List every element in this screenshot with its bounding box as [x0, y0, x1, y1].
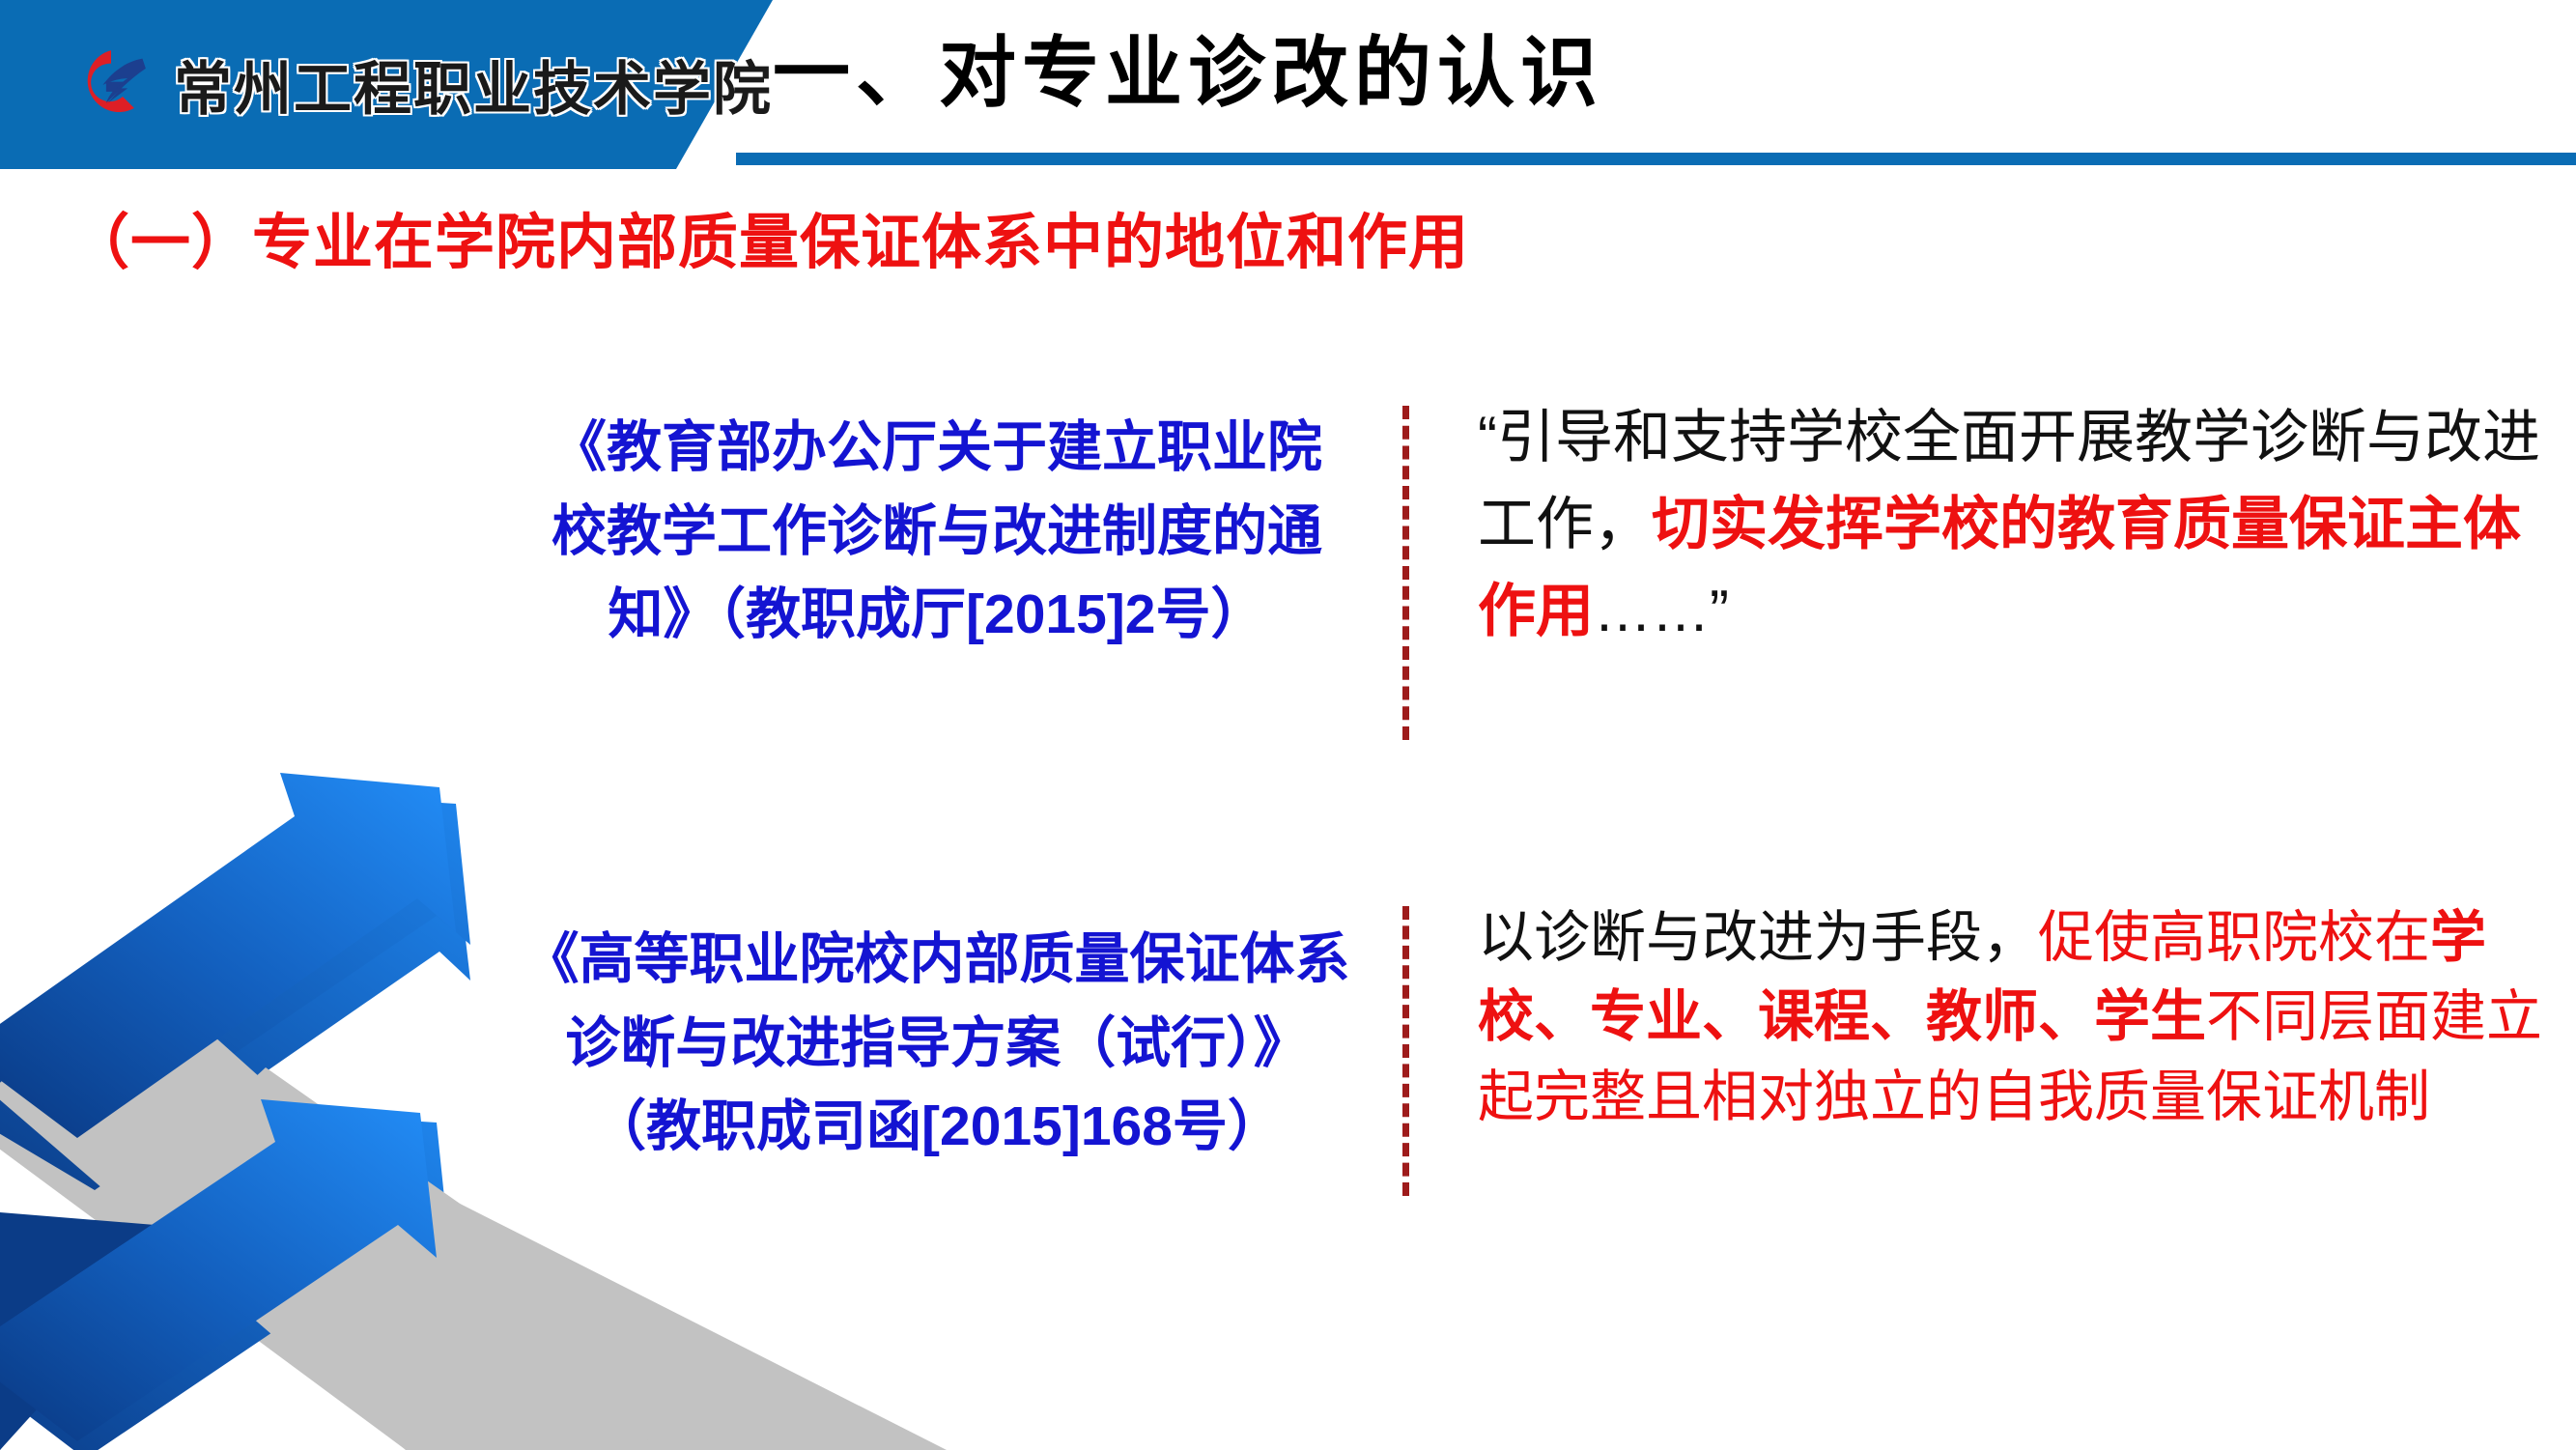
title-underline-rule: [736, 153, 2576, 165]
institution-name: 常州工程职业技术学院: [174, 43, 773, 127]
document-reference-2: 《高等职业院校内部质量保证体系 诊断与改进指导方案（试行）》 （教职成司函[20…: [502, 918, 1372, 1169]
slide-header: 常州工程职业技术学院 一、对专业诊改的认识: [0, 0, 2576, 169]
slide-canvas: 常州工程职业技术学院 一、对专业诊改的认识 （一）专业在学院内部质量保证体系中的…: [0, 0, 2576, 1450]
doc-ref-line: 知》（教职成厅[2015]2号）: [502, 573, 1372, 657]
policy-quote-1: “引导和支持学校全面开展教学诊断与改进工作，切实发挥学校的教育质量保证主体作用……: [1478, 394, 2569, 655]
doc-ref-line: （教职成司函[2015]168号）: [502, 1085, 1372, 1169]
institution-logo: 常州工程职业技术学院: [70, 43, 773, 127]
quote-plain-text: 以诊断与改进为手段，: [1478, 906, 2038, 969]
doc-ref-line: 校教学工作诊断与改进制度的通: [502, 490, 1372, 574]
doc-ref-line: 诊断与改进指导方案（试行）》: [502, 1002, 1372, 1086]
page-title: 一、对专业诊改的认识: [773, 27, 1603, 120]
slide-body: 《教育部办公厅关于建立职业院 校教学工作诊断与改进制度的通 知》（教职成厅[20…: [0, 377, 2576, 1401]
quote-ellipsis: ……: [1594, 579, 1710, 643]
doc-ref-line: 《高等职业院校内部质量保证体系: [502, 918, 1372, 1002]
close-quote-mark: ”: [1710, 579, 1729, 643]
policy-quote-2: 以诊断与改进为手段，促使高职院校在学校、专业、课程、教师、学生不同层面建立起完整…: [1478, 898, 2569, 1137]
open-quote-mark: “: [1478, 405, 1497, 469]
quote-red-text: 促使高职院校在: [2038, 906, 2430, 969]
university-crest-icon: [70, 45, 153, 125]
doc-ref-line: 《教育部办公厅关于建立职业院: [502, 406, 1372, 490]
document-reference-1: 《教育部办公厅关于建立职业院 校教学工作诊断与改进制度的通 知》（教职成厅[20…: [502, 406, 1372, 657]
section-subtitle: （一）专业在学院内部质量保证体系中的地位和作用: [70, 193, 1469, 280]
